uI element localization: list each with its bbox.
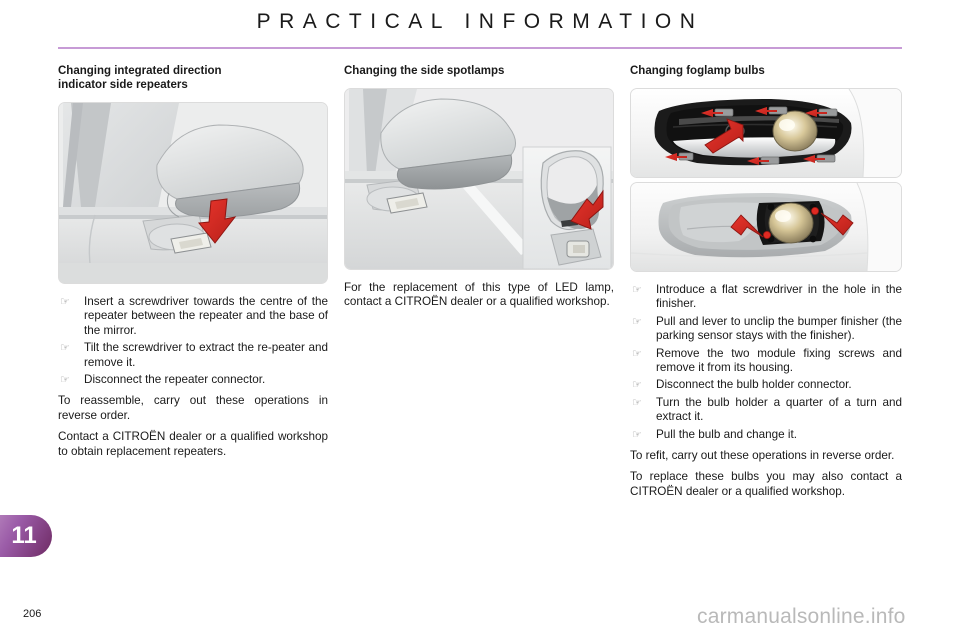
door-mirror-spotlamp-illustration: [345, 89, 613, 269]
pointing-hand-icon: ☞: [632, 347, 648, 361]
bullet-text: Pull and lever to unclip the bumper fini…: [656, 315, 902, 344]
pointing-hand-icon: ☞: [632, 428, 648, 442]
column-side-spotlamps: Changing the side spotlamps: [344, 64, 614, 310]
figure-foglamp-module-screws: [630, 182, 902, 272]
paragraph: Contact a CITROËN dealer or a qualified …: [58, 430, 328, 459]
figure-door-mirror-repeater: [58, 102, 328, 284]
paragraph: To replace these bulbs you may also cont…: [630, 470, 902, 499]
pointing-hand-icon: ☞: [632, 315, 648, 329]
watermark: carmanualsonline.info: [697, 605, 906, 629]
column-direction-indicator-repeaters: Changing integrated direction indicator …: [58, 64, 328, 459]
foglamp-finisher-illustration: [631, 89, 901, 177]
paragraph: For the replacement of this type of LED …: [344, 281, 614, 310]
body-text-block: ☞ Introduce a flat screwdriver in the ho…: [630, 283, 902, 499]
bullet-text: Disconnect the bulb holder connector.: [656, 378, 902, 392]
bullet-item: ☞ Remove the two module fixing screws an…: [630, 347, 902, 376]
pointing-hand-icon: ☞: [60, 373, 76, 387]
page-number: 206: [23, 608, 41, 620]
pointing-hand-icon: ☞: [632, 378, 648, 392]
bullet-item: ☞ Insert a screwdriver towards the centr…: [58, 295, 328, 338]
bullet-item: ☞ Turn the bulb holder a quarter of a tu…: [630, 396, 902, 425]
foglamp-module-illustration: [631, 183, 901, 271]
figure-door-mirror-spotlamp: [344, 88, 614, 270]
paragraph: To reassemble, carry out these operation…: [58, 394, 328, 423]
bullet-text: Disconnect the repeater connector.: [84, 373, 328, 387]
section-heading: Changing integrated direction indicator …: [58, 64, 328, 92]
bullet-text: Remove the two module fixing screws and …: [656, 347, 902, 376]
pointing-hand-icon: ☞: [60, 295, 76, 309]
section-heading: Changing the side spotlamps: [344, 64, 614, 78]
body-text-block: ☞ Insert a screwdriver towards the centr…: [58, 295, 328, 459]
page-title: PRACTICAL INFORMATION: [0, 10, 960, 34]
paragraph: To refit, carry out these operations in …: [630, 449, 902, 463]
bullet-list: ☞ Insert a screwdriver towards the centr…: [58, 295, 328, 387]
bullet-item: ☞ Disconnect the repeater connector.: [58, 373, 328, 387]
pointing-hand-icon: ☞: [632, 396, 648, 410]
header-divider: [58, 47, 902, 49]
bullet-item: ☞ Pull the bulb and change it.: [630, 428, 902, 442]
bullet-item: ☞ Disconnect the bulb holder connector.: [630, 378, 902, 392]
bullet-text: Turn the bulb holder a quarter of a turn…: [656, 396, 902, 425]
pointing-hand-icon: ☞: [632, 283, 648, 297]
inset-detail-panel: [523, 147, 611, 269]
chapter-tab: 11: [0, 515, 52, 557]
bullet-text: Tilt the screwdriver to extract the re-p…: [84, 341, 328, 370]
bullet-text: Insert a screwdriver towards the centre …: [84, 295, 328, 338]
bullet-item: ☞ Introduce a flat screwdriver in the ho…: [630, 283, 902, 312]
figure-foglamp-finisher-clips: [630, 88, 902, 178]
bullet-text: Pull the bulb and change it.: [656, 428, 902, 442]
chapter-number: 11: [11, 522, 36, 550]
bullet-item: ☞ Pull and lever to unclip the bumper fi…: [630, 315, 902, 344]
pointing-hand-icon: ☞: [60, 341, 76, 355]
column-foglamp-bulbs: Changing foglamp bulbs: [630, 64, 902, 499]
body-text-block: For the replacement of this type of LED …: [344, 281, 614, 310]
bullet-list: ☞ Introduce a flat screwdriver in the ho…: [630, 283, 902, 442]
section-heading: Changing foglamp bulbs: [630, 64, 902, 78]
bullet-item: ☞ Tilt the screwdriver to extract the re…: [58, 341, 328, 370]
door-mirror-illustration: [59, 103, 327, 283]
bullet-text: Introduce a flat screwdriver in the hole…: [656, 283, 902, 312]
